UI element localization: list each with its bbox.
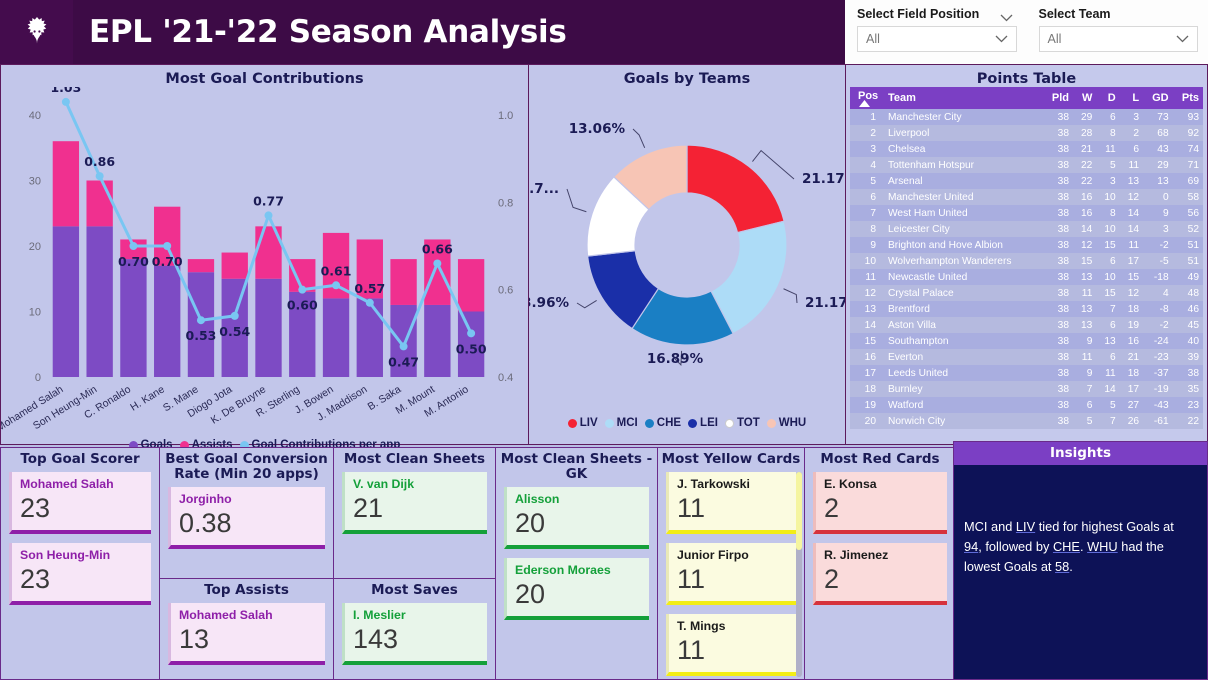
cell-gd: -24 <box>1143 333 1173 349</box>
cell-d: 5 <box>1096 157 1119 173</box>
svg-text:21.17%: 21.17% <box>805 295 845 311</box>
cell-pld: 38 <box>1043 173 1073 189</box>
cell-team: Arsenal <box>884 173 1043 189</box>
kpi-card[interactable]: T. Mings11 <box>666 614 796 676</box>
svg-text:1.0: 1.0 <box>498 110 513 122</box>
cell-team: Manchester United <box>884 189 1043 205</box>
cell-pld: 38 <box>1043 301 1073 317</box>
legend-label: MCI <box>617 417 638 429</box>
cell-pts: 51 <box>1173 237 1203 253</box>
cell-w: 29 <box>1073 109 1096 125</box>
kpi-card-name: I. Meslier <box>353 607 479 623</box>
cell-pld: 38 <box>1043 253 1073 269</box>
kpi-card[interactable]: V. van Dijk21 <box>342 472 487 534</box>
cell-team: Leeds United <box>884 365 1043 381</box>
cell-pts: 39 <box>1173 349 1203 365</box>
table-row[interactable]: 3Chelsea38211164374 <box>850 141 1203 157</box>
kpi-card[interactable]: Mohamed Salah13 <box>168 603 325 665</box>
cell-pos: 15 <box>850 333 884 349</box>
table-row[interactable]: 12Crystal Palace38111512448 <box>850 285 1203 301</box>
legend-label: CHE <box>657 417 681 429</box>
cell-gd: 3 <box>1143 221 1173 237</box>
table-row[interactable]: 5Arsenal38223131369 <box>850 173 1203 189</box>
svg-text:0.61: 0.61 <box>321 263 352 278</box>
cell-team: Brentford <box>884 301 1043 317</box>
field-position-value: All <box>866 32 880 46</box>
cell-gd: -61 <box>1143 413 1173 429</box>
svg-text:0.70: 0.70 <box>118 254 149 269</box>
cell-pos: 5 <box>850 173 884 189</box>
filter-team: Select Team All <box>1027 0 1208 64</box>
cell-team: Watford <box>884 397 1043 413</box>
svg-text:13.96%: 13.96% <box>529 295 569 311</box>
cell-d: 8 <box>1096 125 1119 141</box>
insight-highlight: 58 <box>1055 559 1069 574</box>
cell-d: 15 <box>1096 285 1119 301</box>
svg-text:0.66: 0.66 <box>422 241 453 256</box>
col-header-pos[interactable]: Pos <box>850 87 884 109</box>
kpi-card[interactable]: R. Jimenez2 <box>813 543 947 605</box>
kpi-group-most-clean-sheets-gk: Most Clean Sheets - GKAlisson20Ederson M… <box>495 447 658 680</box>
kpi-card[interactable]: Junior Firpo11 <box>666 543 796 605</box>
donut-legend-item-LIV[interactable]: LIV <box>568 417 598 429</box>
cell-pld: 38 <box>1043 125 1073 141</box>
cell-d: 7 <box>1096 301 1119 317</box>
cell-gd: -2 <box>1143 317 1173 333</box>
svg-text:16.89%: 16.89% <box>647 351 704 367</box>
col-header-d[interactable]: D <box>1096 87 1119 109</box>
kpi-card-name: R. Jimenez <box>824 547 939 563</box>
kpi-card-value: 21 <box>353 492 479 524</box>
svg-text:0.8: 0.8 <box>498 197 513 209</box>
cell-l: 11 <box>1120 237 1143 253</box>
team-value: All <box>1048 32 1062 46</box>
filter-bar: Select Field Position All Select Team Al… <box>845 0 1208 64</box>
insight-text: MCI and <box>964 519 1016 534</box>
cell-w: 9 <box>1073 333 1096 349</box>
table-row[interactable]: 1Manchester City3829637393 <box>850 109 1203 125</box>
cell-pld: 38 <box>1043 269 1073 285</box>
donut-chart-legend: LIVMCICHELEITOTWHU <box>529 417 845 429</box>
sort-ascending-icon <box>859 100 870 107</box>
insight-text: . <box>1069 559 1073 574</box>
cell-gd: -18 <box>1143 269 1173 285</box>
kpi-group-most-yellow-cards: Most Yellow CardsJ. Tarkowski11Junior Fi… <box>657 447 805 680</box>
cell-l: 14 <box>1120 205 1143 221</box>
kpi-card-value: 23 <box>20 492 143 524</box>
svg-text:0.6: 0.6 <box>498 285 513 297</box>
insight-text: tied for highest Goals at <box>1035 519 1174 534</box>
cell-pos: 14 <box>850 317 884 333</box>
table-row[interactable]: 20Norwich City385726-6122 <box>850 413 1203 429</box>
chevron-down-icon <box>995 32 1008 46</box>
legend-dot-icon <box>767 419 776 428</box>
kpi-group-most-clean-sheets: Most Clean SheetsV. van Dijk21 <box>333 447 496 579</box>
cell-d: 15 <box>1096 237 1119 253</box>
legend-label: TOT <box>737 417 760 429</box>
cell-d: 6 <box>1096 317 1119 333</box>
cell-w: 13 <box>1073 317 1096 333</box>
cell-pld: 38 <box>1043 189 1073 205</box>
cell-team: Burnley <box>884 381 1043 397</box>
donut-legend-item-MCI[interactable]: MCI <box>605 417 638 429</box>
donut-legend-item-CHE[interactable]: CHE <box>645 417 681 429</box>
cell-l: 17 <box>1120 253 1143 269</box>
cell-pts: 23 <box>1173 397 1203 413</box>
cell-pos: 4 <box>850 157 884 173</box>
cell-gd: 73 <box>1143 109 1173 125</box>
table-row[interactable]: 8Leicester City38141014352 <box>850 221 1203 237</box>
legend-label: WHU <box>779 417 806 429</box>
table-row[interactable]: 7West Ham United3816814956 <box>850 205 1203 221</box>
cell-d: 11 <box>1096 365 1119 381</box>
cell-l: 2 <box>1120 125 1143 141</box>
svg-text:10: 10 <box>29 307 41 319</box>
points-table-body[interactable]: 1Manchester City38296373932Liverpool3828… <box>850 109 1203 429</box>
cell-pts: 48 <box>1173 285 1203 301</box>
cell-gd: 43 <box>1143 141 1173 157</box>
cell-gd: 4 <box>1143 285 1173 301</box>
team-select[interactable]: All <box>1039 26 1199 52</box>
dashboard-root: EPL '21-'22 Season Analysis Select Field… <box>0 0 1208 680</box>
cell-gd: 13 <box>1143 173 1173 189</box>
kpi-group-title: Most Clean Sheets - GK <box>496 448 657 485</box>
cell-pts: 46 <box>1173 301 1203 317</box>
cell-team: Norwich City <box>884 413 1043 429</box>
filter-field-position-label: Select Field Position <box>857 7 979 26</box>
cell-l: 17 <box>1120 381 1143 397</box>
cell-pos: 3 <box>850 141 884 157</box>
cell-team: West Ham United <box>884 205 1043 221</box>
insight-highlight: 94 <box>964 539 978 554</box>
cell-pts: 58 <box>1173 189 1203 205</box>
insight-text: , followed by <box>978 539 1053 554</box>
cell-pts: 38 <box>1173 365 1203 381</box>
cell-d: 5 <box>1096 397 1119 413</box>
svg-text:13.7...: 13.7... <box>529 181 559 197</box>
cell-gd: -43 <box>1143 397 1173 413</box>
cell-d: 11 <box>1096 141 1119 157</box>
table-row[interactable]: 10Wolverhampton Wanderers3815617-551 <box>850 253 1203 269</box>
cell-w: 7 <box>1073 381 1096 397</box>
cell-pld: 38 <box>1043 333 1073 349</box>
points-table-title: Points Table <box>846 65 1207 87</box>
cell-pos: 10 <box>850 253 884 269</box>
cell-pos: 7 <box>850 205 884 221</box>
cell-w: 9 <box>1073 365 1096 381</box>
cell-team: Tottenham Hotspur <box>884 157 1043 173</box>
cell-team: Manchester City <box>884 109 1043 125</box>
donut-legend-item-LEI[interactable]: LEI <box>688 417 718 429</box>
cell-w: 28 <box>1073 125 1096 141</box>
kpi-card[interactable]: Mohamed Salah23 <box>9 472 151 534</box>
svg-text:21.17%: 21.17% <box>802 171 845 187</box>
cell-gd: -23 <box>1143 349 1173 365</box>
legend-dot-icon <box>725 419 734 428</box>
table-row[interactable]: 18Burnley3871417-1935 <box>850 381 1203 397</box>
cell-team: Liverpool <box>884 125 1043 141</box>
cell-pld: 38 <box>1043 317 1073 333</box>
kpi-group-best-goal-conversion: Best Goal Conversion Rate (Min 20 apps)J… <box>159 447 334 579</box>
filter-team-label: Select Team <box>1039 7 1111 26</box>
cell-team: Newcastle United <box>884 269 1043 285</box>
cell-team: Aston Villa <box>884 317 1043 333</box>
field-position-select[interactable]: All <box>857 26 1017 52</box>
kpi-card-name: Son Heung-Min <box>20 547 143 563</box>
cell-l: 14 <box>1120 221 1143 237</box>
cell-gd: -37 <box>1143 365 1173 381</box>
cell-pts: 52 <box>1173 221 1203 237</box>
cell-d: 14 <box>1096 381 1119 397</box>
insight-highlight: CHE <box>1053 539 1080 554</box>
kpi-group-top-goal-scorer: Top Goal ScorerMohamed Salah23Son Heung-… <box>0 447 160 680</box>
table-row[interactable]: 13Brentford3813718-846 <box>850 301 1203 317</box>
cell-pld: 38 <box>1043 237 1073 253</box>
table-row[interactable]: 2Liverpool3828826892 <box>850 125 1203 141</box>
cell-pos: 20 <box>850 413 884 429</box>
kpi-group-title: Most Red Cards <box>805 448 955 470</box>
cell-w: 21 <box>1073 141 1096 157</box>
donut-legend-item-TOT[interactable]: TOT <box>725 417 760 429</box>
kpi-card[interactable]: E. Konsa2 <box>813 472 947 534</box>
cell-w: 22 <box>1073 157 1096 173</box>
svg-text:0.70: 0.70 <box>152 254 183 269</box>
kpi-card[interactable]: Son Heung-Min23 <box>9 543 151 605</box>
svg-text:0.54: 0.54 <box>219 324 250 339</box>
cell-l: 6 <box>1120 141 1143 157</box>
cell-pos: 11 <box>850 269 884 285</box>
page-title: EPL '21-'22 Season Analysis <box>89 14 567 50</box>
kpi-card-name: Mohamed Salah <box>179 607 317 623</box>
insights-text: MCI and LIV tied for highest Goals at 94… <box>954 465 1207 577</box>
kpi-card-value: 0.38 <box>179 507 317 539</box>
scrollbar-thumb[interactable] <box>796 472 802 550</box>
cell-w: 22 <box>1073 173 1096 189</box>
kpi-card[interactable]: Ederson Moraes20 <box>504 558 649 620</box>
cell-pts: 45 <box>1173 317 1203 333</box>
kpi-card-name: Ederson Moraes <box>515 562 641 578</box>
kpi-card-name: Alisson <box>515 491 641 507</box>
cell-d: 13 <box>1096 333 1119 349</box>
cell-pld: 38 <box>1043 397 1073 413</box>
cell-pts: 40 <box>1173 333 1203 349</box>
cell-w: 6 <box>1073 397 1096 413</box>
legend-dot-icon <box>688 419 697 428</box>
svg-text:0.4: 0.4 <box>498 372 513 384</box>
donut-chart-canvas[interactable]: 21.17%21.17%16.89%13.96%13.7...13.06% <box>529 87 845 417</box>
cell-gd: 0 <box>1143 189 1173 205</box>
points-table-wrap[interactable]: PosTeamPldWDLGDPts 1Manchester City38296… <box>846 87 1207 429</box>
goals-by-teams-chart: Goals by Teams 21.17%21.17%16.89%13.96%1… <box>528 64 846 445</box>
col-header-pts[interactable]: Pts <box>1173 87 1203 109</box>
cell-pld: 38 <box>1043 413 1073 429</box>
table-row[interactable]: 6Manchester United38161012058 <box>850 189 1203 205</box>
cell-team: Wolverhampton Wanderers <box>884 253 1043 269</box>
cell-pld: 38 <box>1043 381 1073 397</box>
svg-text:0.60: 0.60 <box>287 298 318 313</box>
kpi-card-value: 13 <box>179 623 317 655</box>
cell-d: 10 <box>1096 189 1119 205</box>
table-row[interactable]: 11Newcastle United38131015-1849 <box>850 269 1203 285</box>
svg-text:0.77: 0.77 <box>253 193 284 208</box>
kpi-card-name: T. Mings <box>677 618 788 634</box>
kpi-group-title: Top Assists <box>160 579 333 601</box>
cell-team: Chelsea <box>884 141 1043 157</box>
cell-l: 26 <box>1120 413 1143 429</box>
cell-gd: 68 <box>1143 125 1173 141</box>
kpi-card-name: V. van Dijk <box>353 476 479 492</box>
table-row[interactable]: 4Tottenham Hotspur38225112971 <box>850 157 1203 173</box>
chevron-down-icon[interactable] <box>1000 9 1013 27</box>
kpi-card-value: 11 <box>677 563 788 595</box>
cell-w: 16 <box>1073 205 1096 221</box>
kpi-group-title: Top Goal Scorer <box>1 448 159 470</box>
cell-l: 27 <box>1120 397 1143 413</box>
kpi-card-name: Jorginho <box>179 491 317 507</box>
kpi-card-name: E. Konsa <box>824 476 939 492</box>
cell-pos: 6 <box>850 189 884 205</box>
cell-pos: 13 <box>850 301 884 317</box>
cell-pld: 38 <box>1043 221 1073 237</box>
cell-d: 6 <box>1096 109 1119 125</box>
legend-dot-icon <box>568 419 577 428</box>
donut-chart-title: Goals by Teams <box>529 65 845 87</box>
cell-pld: 38 <box>1043 365 1073 381</box>
cell-l: 12 <box>1120 285 1143 301</box>
cell-pld: 38 <box>1043 205 1073 221</box>
cell-l: 18 <box>1120 301 1143 317</box>
points-table-header-row[interactable]: PosTeamPldWDLGDPts <box>850 87 1203 109</box>
kpi-card-value: 2 <box>824 492 939 524</box>
cell-pts: 22 <box>1173 413 1203 429</box>
kpi-card[interactable]: Alisson20 <box>504 487 649 549</box>
cell-w: 14 <box>1073 221 1096 237</box>
cell-l: 19 <box>1120 317 1143 333</box>
cell-pos: 17 <box>850 365 884 381</box>
cell-pld: 38 <box>1043 157 1073 173</box>
cell-l: 3 <box>1120 109 1143 125</box>
donut-legend-item-WHU[interactable]: WHU <box>767 417 806 429</box>
table-row[interactable]: 16Everton3811621-2339 <box>850 349 1203 365</box>
col-header-pld[interactable]: Pld <box>1043 87 1073 109</box>
cell-gd: 9 <box>1143 205 1173 221</box>
cell-pld: 38 <box>1043 109 1073 125</box>
svg-text:0: 0 <box>35 372 41 384</box>
svg-text:0.86: 0.86 <box>84 154 115 169</box>
cell-w: 5 <box>1073 413 1096 429</box>
cell-pts: 93 <box>1173 109 1203 125</box>
kpi-group-title: Best Goal Conversion Rate (Min 20 apps) <box>160 448 333 485</box>
filter-field-position: Select Field Position All <box>845 0 1027 64</box>
cell-d: 10 <box>1096 221 1119 237</box>
cell-gd: -5 <box>1143 253 1173 269</box>
kpi-card-name: Junior Firpo <box>677 547 788 563</box>
most-goal-contributions-chart: Most Goal Contributions 0102030400.40.60… <box>0 64 529 445</box>
kpi-card[interactable]: J. Tarkowski11 <box>666 472 796 534</box>
kpi-group-most-saves: Most SavesI. Meslier143 <box>333 578 496 680</box>
cell-team: Brighton and Hove Albion <box>884 237 1043 253</box>
cell-pos: 18 <box>850 381 884 397</box>
cell-pts: 51 <box>1173 253 1203 269</box>
kpi-group-top-assists: Top AssistsMohamed Salah13 <box>159 578 334 680</box>
cell-gd: -2 <box>1143 237 1173 253</box>
kpi-group-title: Most Yellow Cards <box>658 448 804 470</box>
legend-label: LIV <box>580 417 598 429</box>
cell-d: 6 <box>1096 349 1119 365</box>
kpi-card-name: Mohamed Salah <box>20 476 143 492</box>
kpi-card-value: 20 <box>515 578 641 610</box>
cell-gd: 29 <box>1143 157 1173 173</box>
cell-d: 3 <box>1096 173 1119 189</box>
cell-pos: 12 <box>850 285 884 301</box>
cell-w: 11 <box>1073 285 1096 301</box>
kpi-card-value: 11 <box>677 634 788 666</box>
kpi-card-value: 2 <box>824 563 939 595</box>
cell-pts: 49 <box>1173 269 1203 285</box>
insights-title: Insights <box>954 442 1207 465</box>
cell-d: 10 <box>1096 269 1119 285</box>
svg-text:H. Kane: H. Kane <box>128 383 167 413</box>
bar-chart-title: Most Goal Contributions <box>1 65 528 87</box>
insight-highlight: LIV <box>1016 519 1035 534</box>
table-row[interactable]: 19Watford386527-4323 <box>850 397 1203 413</box>
table-row[interactable]: 15Southampton3891316-2440 <box>850 333 1203 349</box>
table-row[interactable]: 14Aston Villa3813619-245 <box>850 317 1203 333</box>
points-table[interactable]: PosTeamPldWDLGDPts 1Manchester City38296… <box>850 87 1203 429</box>
svg-text:0.53: 0.53 <box>186 328 217 343</box>
cell-l: 21 <box>1120 349 1143 365</box>
cell-w: 13 <box>1073 269 1096 285</box>
cell-pld: 38 <box>1043 141 1073 157</box>
kpi-card-value: 20 <box>515 507 641 539</box>
table-row[interactable]: 17Leeds United3891118-3738 <box>850 365 1203 381</box>
cell-w: 13 <box>1073 301 1096 317</box>
cell-pld: 38 <box>1043 285 1073 301</box>
insights-panel: Insights MCI and LIV tied for highest Go… <box>953 441 1208 680</box>
cell-pts: 69 <box>1173 173 1203 189</box>
legend-label: LEI <box>700 417 718 429</box>
legend-dot-icon <box>605 419 614 428</box>
col-header-gd[interactable]: GD <box>1143 87 1173 109</box>
col-header-l[interactable]: L <box>1120 87 1143 109</box>
dashboard-header: EPL '21-'22 Season Analysis <box>0 0 845 64</box>
col-header-w[interactable]: W <box>1073 87 1096 109</box>
svg-text:20: 20 <box>29 241 41 253</box>
cell-l: 13 <box>1120 173 1143 189</box>
cell-w: 15 <box>1073 253 1096 269</box>
cell-d: 7 <box>1096 413 1119 429</box>
kpi-card-value: 11 <box>677 492 788 524</box>
kpi-card[interactable]: I. Meslier143 <box>342 603 487 665</box>
cell-w: 12 <box>1073 237 1096 253</box>
cell-pts: 74 <box>1173 141 1203 157</box>
cell-pos: 8 <box>850 221 884 237</box>
bar-chart-canvas[interactable]: 0102030400.40.60.81.01.030.860.700.700.5… <box>1 87 528 445</box>
cell-pos: 19 <box>850 397 884 413</box>
svg-text:0.57: 0.57 <box>354 281 385 296</box>
insight-highlight: WHU <box>1087 539 1118 554</box>
kpi-card-name: J. Tarkowski <box>677 476 788 492</box>
cell-l: 18 <box>1120 365 1143 381</box>
kpi-card-value: 23 <box>20 563 143 595</box>
cell-pos: 16 <box>850 349 884 365</box>
legend-dot-icon <box>645 419 654 428</box>
cell-l: 16 <box>1120 333 1143 349</box>
table-row[interactable]: 9Brighton and Hove Albion38121511-251 <box>850 237 1203 253</box>
kpi-card[interactable]: Jorginho0.38 <box>168 487 325 549</box>
points-table-panel: Points Table PosTeamPldWDLGDPts 1Manches… <box>845 64 1208 445</box>
col-header-team[interactable]: Team <box>884 87 1043 109</box>
